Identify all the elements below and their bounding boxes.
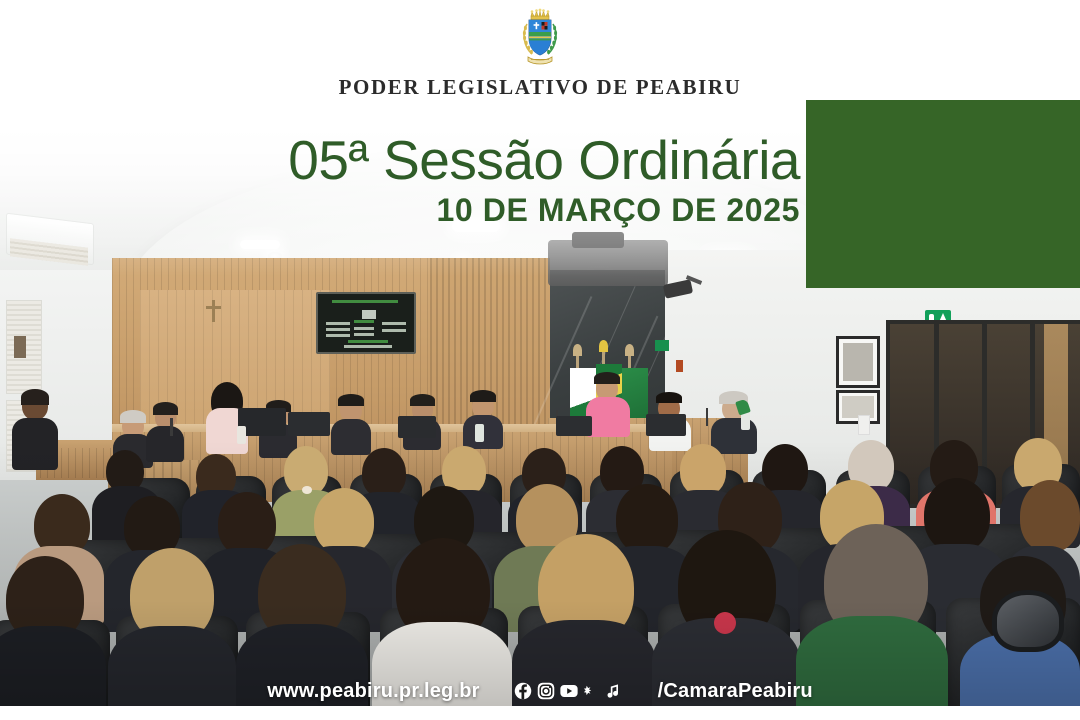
session-title: 05ª Sessão Ordinária	[0, 132, 800, 190]
audience-head	[362, 448, 406, 498]
audience-head	[218, 492, 276, 556]
microphone-stand	[170, 418, 173, 436]
laptop	[398, 416, 436, 438]
website-url[interactable]: www.peabiru.pr.leg.br	[267, 680, 479, 703]
facebook-icon[interactable]	[514, 682, 532, 700]
laptop	[288, 412, 330, 436]
brand-header: PODER LEGISLATIVO DE PEABIRU	[0, 8, 1080, 100]
audience-head	[1020, 480, 1080, 552]
footer-bar: www.peabiru.pr.leg.br /Cam	[0, 676, 1080, 706]
session-date: 10 DE MARÇO DE 2025	[0, 192, 800, 229]
bottom-white-margin	[0, 706, 1080, 720]
flagpole-finial	[625, 344, 634, 356]
wall-crucifix-bar	[206, 306, 221, 309]
wall-crucifix	[212, 300, 215, 322]
green-accent-block	[806, 100, 1080, 288]
audience-head	[924, 478, 990, 552]
motorcycle-mirror	[992, 590, 1064, 652]
wall-intercom	[858, 415, 870, 435]
wall-switch-box	[14, 336, 26, 358]
social-handle[interactable]: /CamaraPeabiru	[658, 680, 813, 703]
tiktok-icon[interactable]	[583, 682, 601, 700]
laptop	[556, 416, 592, 436]
audience-head-blonde	[314, 488, 374, 554]
audience-head-blonde	[680, 444, 726, 496]
laptop	[646, 414, 686, 436]
social-links	[514, 682, 624, 700]
small-exit-sign-icon	[655, 340, 669, 351]
audience-head	[616, 484, 678, 554]
flagpole-finial	[573, 344, 582, 356]
session-title-text: 05ª Sessão Ordinária	[288, 129, 800, 191]
session-announcement-poster: PODER LEGISLATIVO DE PEABIRU 05ª Sessão …	[0, 0, 1080, 720]
youtube-icon[interactable]	[560, 682, 578, 700]
fire-extinguisher-marker	[676, 360, 683, 372]
hair-clip	[302, 486, 312, 494]
title-block: 05ª Sessão Ordinária 10 DE MARÇO DE 2025	[0, 132, 800, 229]
microphone-stand	[706, 408, 708, 426]
water-bottle	[741, 412, 750, 430]
hair-flower	[714, 612, 736, 634]
peabiru-coat-of-arms-icon	[518, 8, 562, 66]
electronic-voting-panel	[316, 292, 416, 354]
organization-name: PODER LEGISLATIVO DE PEABIRU	[0, 75, 1080, 100]
ceiling-strip-light	[240, 240, 280, 249]
flagpole-finial	[599, 340, 608, 352]
projector-mount	[572, 232, 624, 248]
music-note-icon[interactable]	[606, 682, 624, 700]
wall-portrait-frame	[836, 336, 880, 388]
instagram-icon[interactable]	[537, 682, 555, 700]
